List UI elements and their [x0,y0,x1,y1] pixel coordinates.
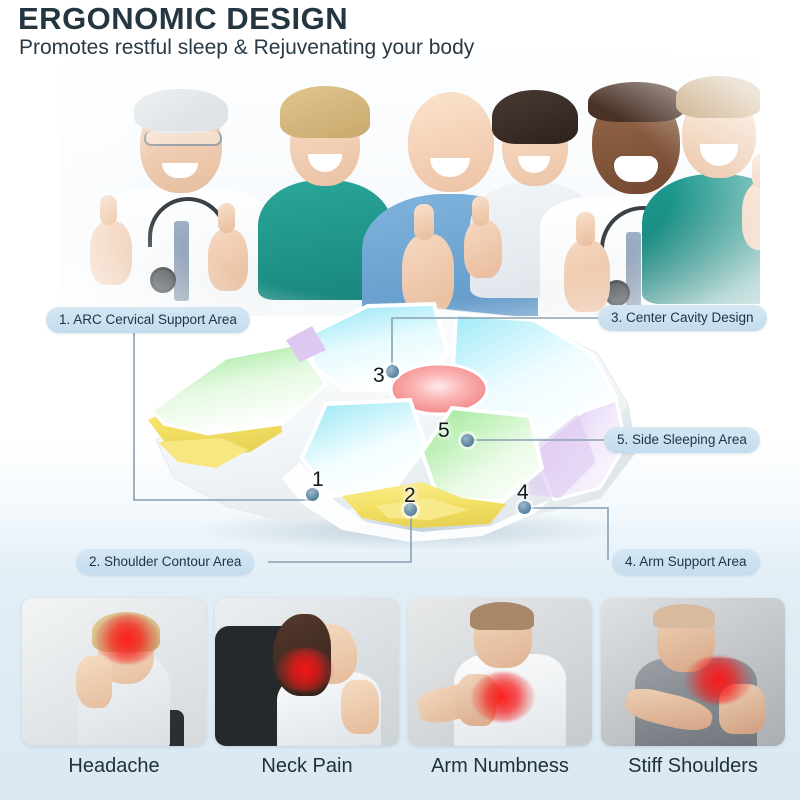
infographic-page: 1. ARC Cervical Support Area 2. Shoulder… [0,0,800,800]
callout-label-2[interactable]: 2. Shoulder Contour Area [76,549,254,575]
callout-label-3[interactable]: 3. Center Cavity Design [598,305,767,331]
callout-label-1[interactable]: 1. ARC Cervical Support Area [46,307,250,333]
callout-number-1: 1 [312,468,324,492]
callout-label-5[interactable]: 5. Side Sleeping Area [604,427,760,453]
callout-number-3: 3 [373,364,385,388]
callout-label-4[interactable]: 4. Arm Support Area [612,549,760,575]
callout-number-5: 5 [438,419,450,443]
callout-number-4: 4 [517,481,529,505]
callout-marker-dot-3[interactable] [386,365,399,378]
leader-lines [0,0,800,800]
callout-number-2: 2 [404,484,416,508]
callout-marker-dot-5[interactable] [461,434,474,447]
